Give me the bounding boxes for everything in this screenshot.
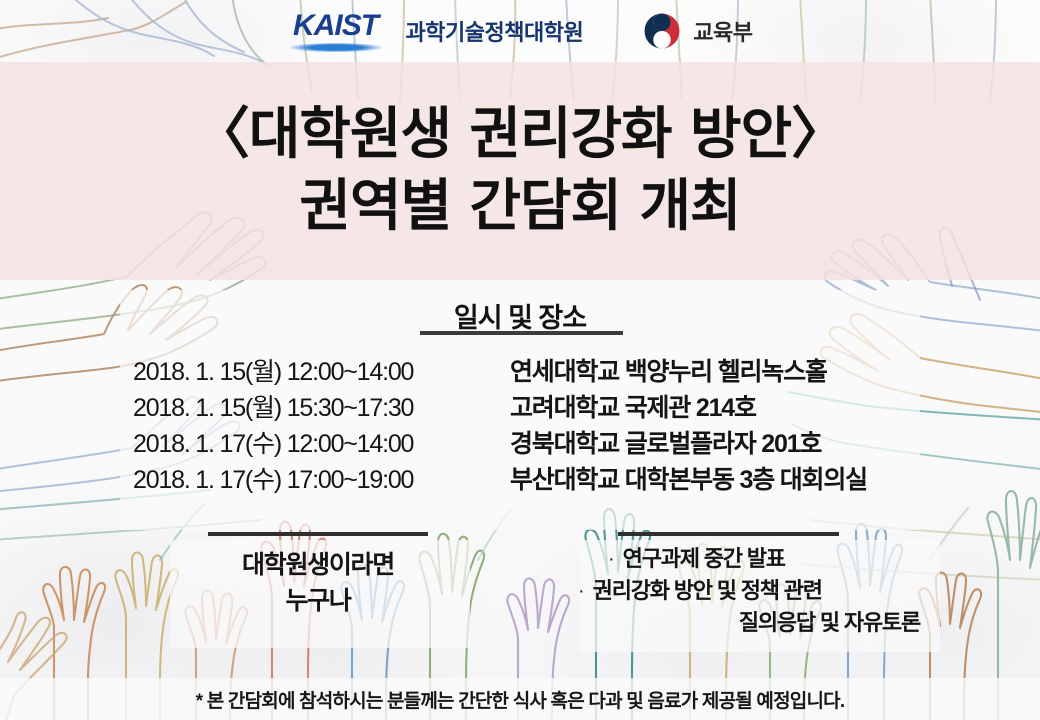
- audience-line-2: 누구나: [168, 584, 468, 620]
- agenda-item-2-continuation: 질의응답 및 자유토론: [578, 607, 938, 639]
- agenda-item-2-line-2: 질의응답 및 자유토론: [739, 610, 920, 635]
- table-row: 2018. 1. 15(월) 12:00~14:00 연세대학교 백양누리 헬리…: [133, 352, 933, 388]
- title-line-1: 〈대학원생 권리강화 방안〉: [194, 102, 846, 168]
- poster-title: 〈대학원생 권리강화 방안〉 권역별 간담회 개최: [0, 62, 1040, 280]
- title-line-2: 권역별 간담회 개최: [299, 174, 740, 240]
- kaist-subtitle: 과학기술정책대학원: [406, 15, 584, 47]
- table-row: 2018. 1. 15(월) 15:30~17:30 고려대학교 국제관 214…: [133, 388, 933, 424]
- schedule-table: 2018. 1. 15(월) 12:00~14:00 연세대학교 백양누리 헬리…: [133, 352, 933, 496]
- schedule-place: 연세대학교 백양누리 헬리녹스홀: [510, 352, 827, 388]
- footer-note: * 본 간담회에 참석하시는 분들께는 간단한 식사 혹은 다과 및 음료가 제…: [196, 691, 845, 712]
- list-item: · 권리강화 방안 및 정책 관련: [578, 575, 938, 607]
- bullet-icon: ·: [578, 575, 585, 606]
- schedule-date: 2018. 1. 17(수) 12:00~14:00: [133, 424, 510, 460]
- table-row: 2018. 1. 17(수) 12:00~14:00 경북대학교 글로벌플라자 …: [133, 424, 933, 460]
- schedule-date: 2018. 1. 15(월) 12:00~14:00: [133, 352, 510, 388]
- schedule-date: 2018. 1. 17(수) 17:00~19:00: [133, 460, 510, 496]
- kaist-logo: KAIST: [288, 11, 384, 52]
- agenda-section: · 연구과제 중간 발표 · 권리강화 방안 및 정책 관련 질의응답 및 자유…: [578, 543, 938, 639]
- table-row: 2018. 1. 17(수) 17:00~19:00 부산대학교 대학본부동 3…: [133, 460, 933, 496]
- ministry-logo-group: 교육부: [643, 12, 752, 50]
- agenda-item-1: 연구과제 중간 발표: [623, 543, 785, 575]
- kaist-swoosh-icon: [288, 43, 384, 52]
- schedule-heading-wrap: 일시 및 장소: [0, 296, 1040, 335]
- schedule-heading-rule: [420, 331, 623, 335]
- footer-note-wrap: * 본 간담회에 참석하시는 분들께는 간단한 식사 혹은 다과 및 음료가 제…: [0, 686, 1040, 713]
- agenda-item-2-line-1: 권리강화 방안 및 정책 관련: [593, 575, 822, 607]
- logo-header: KAIST 과학기술정책대학원 교육부: [0, 0, 1040, 62]
- schedule-place: 부산대학교 대학본부동 3층 대회의실: [510, 460, 867, 496]
- schedule-place: 경북대학교 글로벌플라자 201호: [510, 424, 821, 460]
- ministry-label: 교육부: [693, 15, 752, 47]
- taegeuk-emblem-icon: [643, 12, 681, 50]
- list-item: · 연구과제 중간 발표: [608, 543, 938, 575]
- schedule-place: 고려대학교 국제관 214호: [510, 388, 756, 424]
- bullet-icon: ·: [608, 543, 615, 574]
- kaist-wordmark: KAIST: [293, 11, 378, 41]
- poster-canvas: KAIST 과학기술정책대학원 교육부 〈대학원생 권리강화 방안〉 권역별 간…: [0, 0, 1040, 720]
- kaist-logo-group: KAIST 과학기술정책대학원: [288, 11, 584, 52]
- schedule-heading: 일시 및 장소: [454, 296, 586, 335]
- audience-section-rule: [208, 532, 428, 536]
- audience-line-1: 대학원생이라면: [168, 548, 468, 584]
- audience-section: 대학원생이라면 누구나: [168, 548, 468, 619]
- schedule-date: 2018. 1. 15(월) 15:30~17:30: [133, 388, 510, 424]
- agenda-section-rule: [618, 532, 839, 536]
